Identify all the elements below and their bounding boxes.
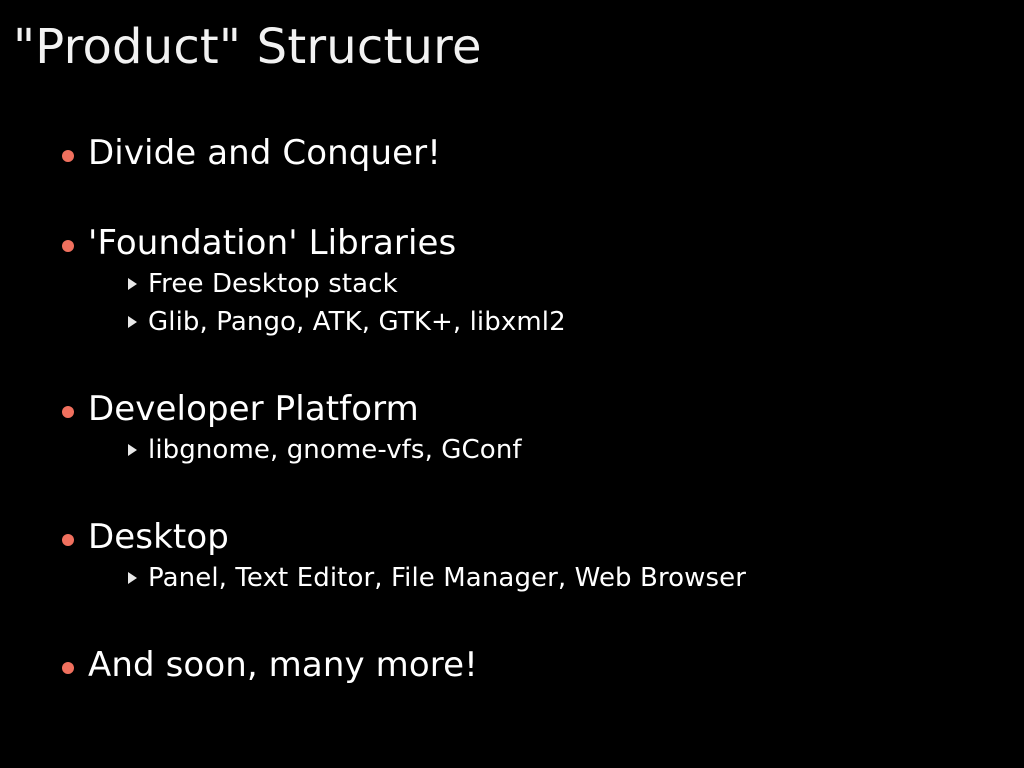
bullet-list: Divide and Conquer! 'Foundation' Librari… <box>0 131 1024 687</box>
list-item[interactable]: 'Foundation' Libraries <box>0 221 1024 265</box>
filled-circle-bullet-icon <box>62 406 74 418</box>
right-triangle-bullet-icon <box>128 572 137 584</box>
list-item[interactable]: Desktop <box>0 515 1024 559</box>
sub-list-item-label: Glib, Pango, ATK, GTK+, libxml2 <box>148 303 1024 341</box>
filled-circle-bullet-icon <box>62 534 74 546</box>
right-triangle-bullet-icon <box>128 316 137 328</box>
list-item[interactable]: Developer Platform <box>0 387 1024 431</box>
sub-list-item-label: libgnome, gnome-vfs, GConf <box>148 431 1024 469</box>
sub-list-item[interactable]: libgnome, gnome-vfs, GConf <box>0 431 1024 469</box>
right-triangle-bullet-icon <box>128 278 137 290</box>
bullet-group: Developer Platform libgnome, gnome-vfs, … <box>0 387 1024 469</box>
filled-circle-bullet-icon <box>62 150 74 162</box>
bullet-group: Divide and Conquer! <box>0 131 1024 175</box>
sub-list-item[interactable]: Free Desktop stack <box>0 265 1024 303</box>
sub-list-item[interactable]: Glib, Pango, ATK, GTK+, libxml2 <box>0 303 1024 341</box>
list-item-label: Developer Platform <box>88 387 1024 431</box>
list-item[interactable]: Divide and Conquer! <box>0 131 1024 175</box>
sub-list-item-label: Free Desktop stack <box>148 265 1024 303</box>
page-title: "Product" Structure <box>13 18 482 76</box>
list-item-label: Desktop <box>88 515 1024 559</box>
filled-circle-bullet-icon <box>62 240 74 252</box>
right-triangle-bullet-icon <box>128 444 137 456</box>
sub-list-item-label: Panel, Text Editor, File Manager, Web Br… <box>148 559 1024 597</box>
bullet-group: Desktop Panel, Text Editor, File Manager… <box>0 515 1024 597</box>
bullet-group: And soon, many more! <box>0 643 1024 687</box>
bullet-group: 'Foundation' Libraries Free Desktop stac… <box>0 221 1024 341</box>
sub-list-item[interactable]: Panel, Text Editor, File Manager, Web Br… <box>0 559 1024 597</box>
presentation-slide: "Product" Structure Divide and Conquer! … <box>0 0 1024 768</box>
list-item-label: And soon, many more! <box>88 643 1024 687</box>
list-item[interactable]: And soon, many more! <box>0 643 1024 687</box>
list-item-label: Divide and Conquer! <box>88 131 1024 175</box>
filled-circle-bullet-icon <box>62 662 74 674</box>
list-item-label: 'Foundation' Libraries <box>88 221 1024 265</box>
